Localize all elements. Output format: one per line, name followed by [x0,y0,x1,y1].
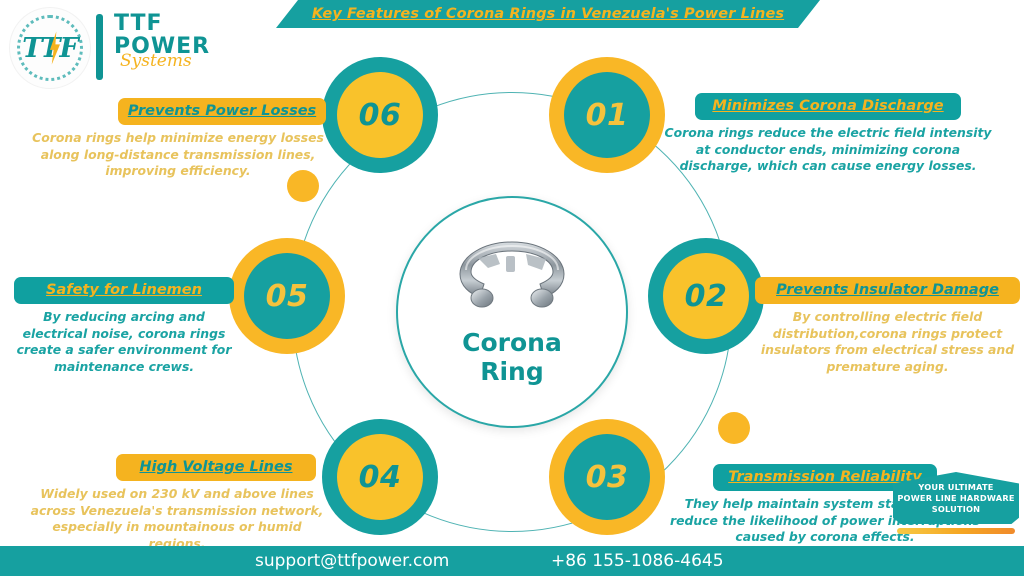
feature-body-02: By controlling electric field distributi… [755,309,1020,375]
tagline-line1: YOUR ULTIMATE [897,482,1014,493]
footer-email[interactable]: support@ttfpower.com [255,551,449,571]
center-label-line2: Ring [462,357,562,386]
center-label: Corona Ring [462,328,562,386]
feature-title-04: High Voltage Lines [140,459,293,475]
badge-accent-bar [897,528,1015,534]
lightning-bolt-icon [49,30,60,66]
feature-number-02: 02 [685,279,728,314]
feature-block-05: Safety for Linemen By reducing arcing an… [10,277,238,375]
feature-banner-05: Safety for Linemen [14,277,234,304]
feature-banner-04: High Voltage Lines [116,454,316,481]
feature-node-04[interactable]: 04 [322,419,438,535]
feature-block-01: Minimizes Corona Discharge Corona rings … [660,93,996,175]
feature-node-03[interactable]: 03 [549,419,665,535]
feature-node-05[interactable]: 05 [229,238,345,354]
logo-text-line1: TTF [114,12,244,35]
page-title: Key Features of Corona Rings in Venezuel… [312,6,784,22]
feature-banner-06: Prevents Power Losses [118,98,326,125]
page-title-banner: Key Features of Corona Rings in Venezuel… [276,0,820,28]
feature-number-03: 03 [586,460,629,495]
corona-ring-product-photo [448,234,576,320]
feature-body-01: Corona rings reduce the electric field i… [660,125,996,175]
feature-title-03: Transmission Reliability [728,469,922,485]
feature-number-06: 06 [359,98,402,133]
feature-body-04: Widely used on 230 kV and above lines ac… [22,486,332,552]
feature-title-05: Safety for Linemen [46,282,202,298]
tagline-line2: POWER LINE HARDWARE [897,493,1014,504]
feature-title-02: Prevents Insulator Damage [776,282,999,298]
feature-node-02[interactable]: 02 [648,238,764,354]
logo-emblem: TTF [10,8,90,88]
feature-title-06: Prevents Power Losses [128,103,316,119]
logo-divider [96,14,103,80]
infographic-canvas: TTF TTF POWER Systems Key Features of Co… [0,0,1024,576]
tagline-badge-text: YOUR ULTIMATE POWER LINE HARDWARE SOLUTI… [893,482,1018,515]
feature-number-01: 01 [586,98,629,133]
feature-block-04: High Voltage Lines Widely used on 230 kV… [22,454,332,552]
feature-node-01[interactable]: 01 [549,57,665,173]
center-label-line1: Corona [462,328,562,357]
feature-body-06: Corona rings help minimize energy losses… [28,130,328,180]
brand-logo[interactable]: TTF TTF POWER Systems [6,6,246,92]
feature-title-01: Minimizes Corona Discharge [712,98,943,114]
feature-block-06: Prevents Power Losses Corona rings help … [28,98,328,180]
logo-wordmark: TTF POWER Systems [114,12,244,70]
logo-text-line3: Systems [120,52,244,70]
feature-banner-01: Minimizes Corona Discharge [695,93,961,120]
connector-dot-lower-right [718,412,750,444]
feature-number-04: 04 [359,460,402,495]
feature-body-05: By reducing arcing and electrical noise,… [10,309,238,375]
feature-number-05: 05 [266,279,309,314]
feature-block-02: Prevents Insulator Damage By controlling… [755,277,1020,375]
footer-bar: support@ttfpower.com +86 155-1086-4645 [0,546,1024,576]
center-hub: Corona Ring [396,196,628,428]
footer-phone[interactable]: +86 155-1086-4645 [551,551,724,571]
feature-node-06[interactable]: 06 [322,57,438,173]
feature-banner-02: Prevents Insulator Damage [755,277,1020,304]
tagline-line3: SOLUTION [897,504,1014,515]
